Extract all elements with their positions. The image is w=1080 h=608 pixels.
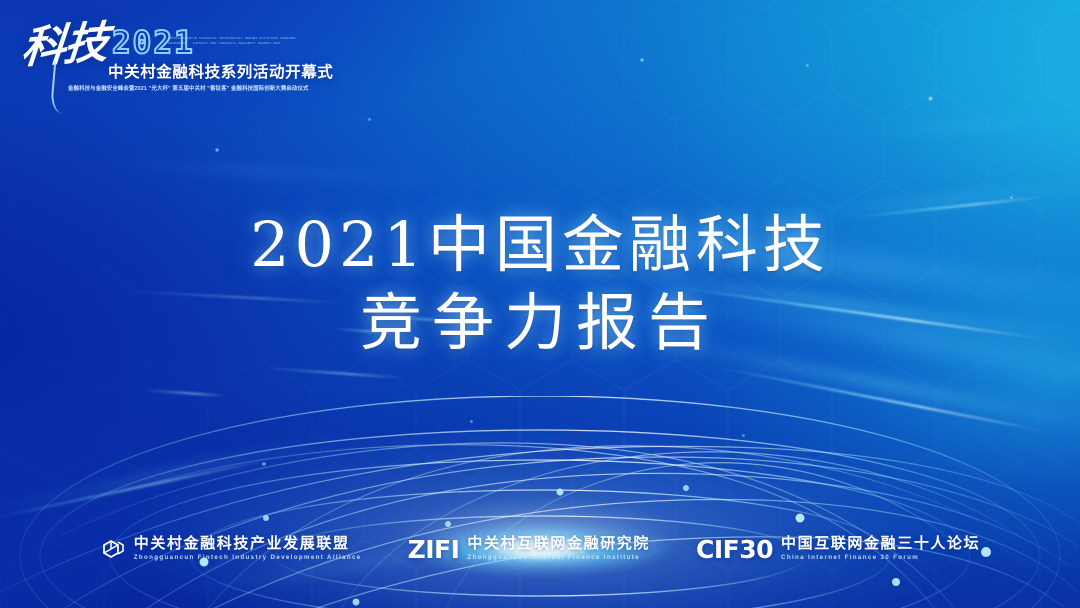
zifi-wordmark-icon: ZIFI xyxy=(408,537,460,562)
partner-name-cn: 中关村互联网金融研究院 xyxy=(467,535,650,553)
partner-logo-bar: 中关村金融科技产业发展联盟 Zhongguancun Fintech Indus… xyxy=(0,535,1080,563)
header-english-microtext: ZHONGGUANCUN FINANCIAL TECHNOLOGY SERIES… xyxy=(168,36,308,46)
globe-network-graphic xyxy=(0,396,1080,608)
partner-name-cn: 中国互联网金融三十人论坛 xyxy=(781,535,980,553)
event-subtitle: 中关村金融科技系列活动开幕式 xyxy=(108,60,333,82)
partner-name-en: Zhongguancun Fintech Industry Developmen… xyxy=(134,553,362,563)
partner-logo-alliance: 中关村金融科技产业发展联盟 Zhongguancun Fintech Indus… xyxy=(100,535,362,563)
event-header-logo: 科技 2021 ZHONGGUANCUN FINANCIAL TECHNOLOG… xyxy=(0,0,330,118)
partner-abbr: ZIFI xyxy=(408,537,460,562)
partner-logo-cif30: CIF30 中国互联网金融三十人论坛 China Internet Financ… xyxy=(696,535,980,563)
partner-name-cn: 中关村金融科技产业发展联盟 xyxy=(134,535,362,553)
title-line-2: 竞争力报告 xyxy=(0,284,1080,362)
partner-name-en: China Internet Finance 30 Forum xyxy=(781,553,980,563)
alliance-cube-icon xyxy=(100,536,126,562)
partner-name-en: Zhongguancun Internet Finance Institute xyxy=(467,553,650,563)
partner-logo-zifi: ZIFI 中关村互联网金融研究院 Zhongguancun Internet F… xyxy=(408,535,650,563)
event-fine-print: 金融科技与金融安全峰会暨2021 "光大杯" 第五届中关村 "番钛客" 金融科技… xyxy=(68,84,309,92)
partner-abbr: CIF30 xyxy=(696,537,773,562)
presentation-slide: 科技 2021 ZHONGGUANCUN FINANCIAL TECHNOLOG… xyxy=(0,0,1080,608)
cif30-wordmark-icon: CIF30 xyxy=(696,537,773,562)
title-line-1: 2021中国金融科技 xyxy=(0,206,1080,284)
main-title-block: 2021中国金融科技 竞争力报告 xyxy=(0,206,1080,362)
